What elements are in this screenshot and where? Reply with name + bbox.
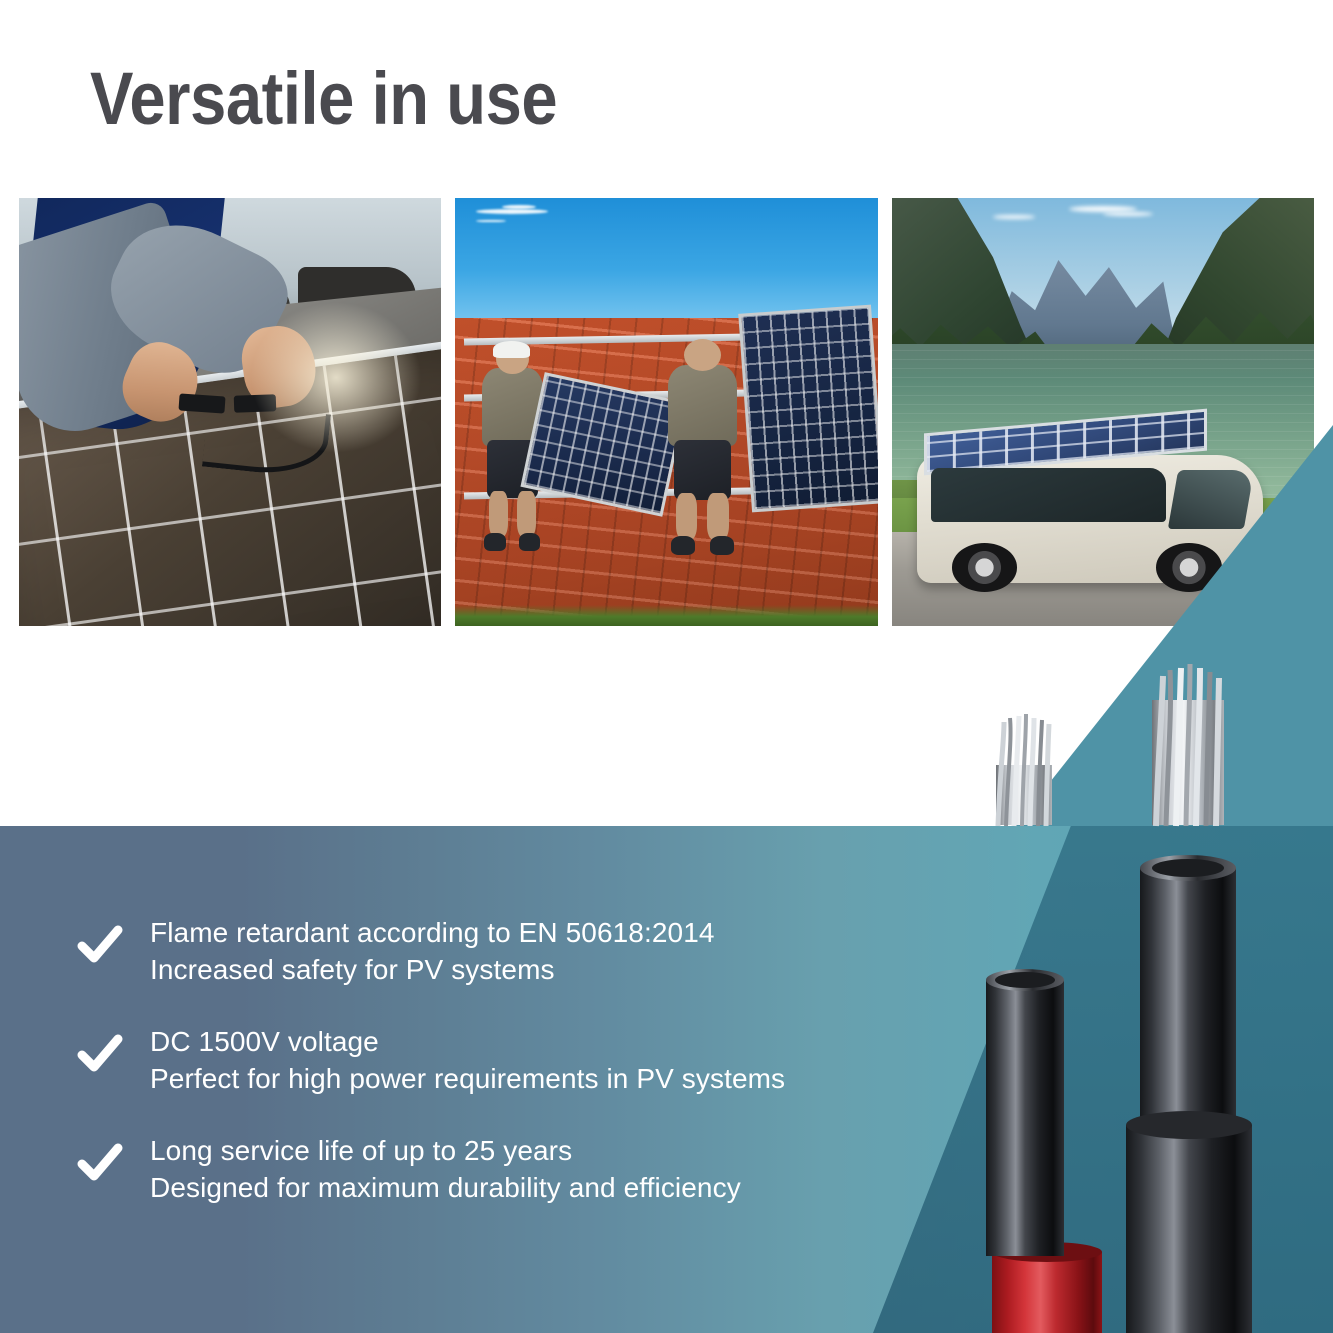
feature-text: Flame retardant according to EN 50618:20… [150, 914, 976, 988]
photo2-shirt [668, 365, 737, 446]
infographic-page: Versatile in use [0, 0, 1333, 1333]
photo2-shorts [674, 440, 731, 500]
photo2-sky [455, 198, 877, 318]
feature-headline: Long service life of up to 25 years [150, 1135, 572, 1166]
photo3-windshield [1168, 470, 1255, 529]
feature-text: Long service life of up to 25 years Desi… [150, 1132, 976, 1206]
photo2-leg [517, 491, 536, 536]
photo2-cap [493, 341, 530, 357]
photo2-shoe [710, 536, 734, 555]
photo3-cloud [993, 215, 1035, 219]
cable-left-conductor [996, 714, 1052, 826]
photo3-wheel [952, 543, 1018, 592]
photo3-wheel [1156, 543, 1222, 592]
photo3-side-windows [931, 468, 1166, 522]
feature-text: DC 1500V voltage Perfect for high power … [150, 1023, 976, 1097]
photo-tile-roof-installation [455, 198, 877, 626]
check-icon [76, 1138, 124, 1186]
feature-subline: Perfect for high power requirements in P… [150, 1063, 785, 1094]
photo-rooftop-connector [19, 198, 441, 626]
feature-item: Long service life of up to 25 years Desi… [76, 1132, 976, 1206]
photo2-mounted-module [738, 305, 877, 512]
photo2-grass [455, 605, 877, 626]
feature-headline: DC 1500V voltage [150, 1026, 379, 1057]
photo2-leg [489, 491, 508, 536]
photo2-cloud [476, 209, 548, 214]
photo-camper-van-lake [892, 198, 1314, 626]
photo2-shoe [671, 536, 695, 555]
feature-list: Flame retardant according to EN 50618:20… [76, 914, 976, 1241]
photo3-cloud [1103, 212, 1154, 217]
photo2-cloud [476, 220, 506, 223]
photo2-shoe [519, 533, 541, 551]
page-title: Versatile in use [90, 62, 557, 136]
feature-subline: Designed for maximum durability and effi… [150, 1172, 741, 1203]
photo3-camper-van [917, 455, 1263, 583]
check-icon [76, 920, 124, 968]
photo2-shoe [484, 533, 506, 551]
cable-right-conductor [1152, 664, 1224, 826]
photo2-leg [707, 493, 729, 540]
photo2-worker-right [666, 339, 738, 553]
feature-panel: Flame retardant according to EN 50618:20… [0, 826, 1333, 1333]
feature-headline: Flame retardant according to EN 50618:20… [150, 917, 715, 948]
photo1-sun-glare [239, 292, 433, 463]
photo2-leg [676, 493, 698, 540]
check-icon [76, 1029, 124, 1077]
feature-subline: Increased safety for PV systems [150, 954, 555, 985]
image-gallery [19, 198, 1314, 626]
feature-item: Flame retardant according to EN 50618:20… [76, 914, 976, 988]
feature-item: DC 1500V voltage Perfect for high power … [76, 1023, 976, 1097]
photo3-cloud [1069, 206, 1137, 212]
